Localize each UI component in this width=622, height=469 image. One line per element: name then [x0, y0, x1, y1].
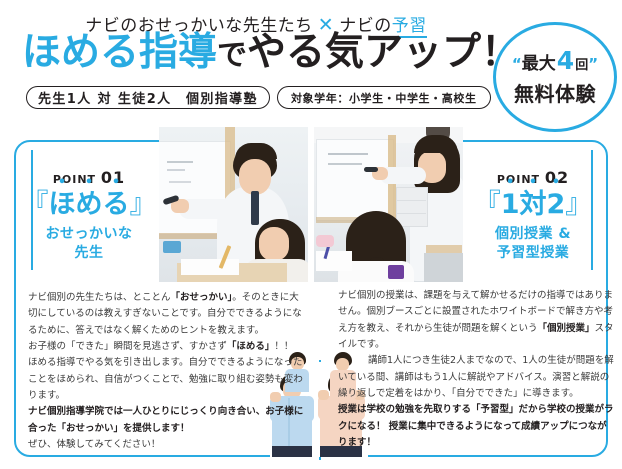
free-trial-badge: “最大4回” 無料体験 — [493, 22, 617, 132]
point-01-title: 『ほめる』 — [14, 189, 164, 220]
point-01-sub-line1: おせっかいな — [14, 225, 164, 244]
body-right-p3: 授業は学校の勉強を先取りする「予習型」だから学校の授業がラクになる！ 授業に集中… — [338, 402, 614, 451]
body-left-p4: ナビ個別指導学院では一人ひとりにじっくり向き合い、お子様に合った「おせっかい」を… — [28, 404, 306, 437]
badge-prefix: 最大 — [522, 56, 556, 73]
point-01-bracket-open: 『 — [22, 189, 49, 220]
body-right-p1: ナビ個別の授業は、課題を与えて解かせるだけの指導ではありません。個別ブースごとに… — [338, 288, 614, 353]
body-text-right: ナビ個別の授業は、課題を与えて解かせるだけの指導ではありません。個別ブースごとに… — [338, 288, 614, 451]
badge-number: 4 — [556, 48, 575, 73]
badge-top-line: “最大4回” — [512, 48, 598, 73]
point-02-bracket-open: 『 — [474, 189, 501, 220]
point-02-bracket-close: 』 — [565, 189, 592, 220]
photo-row — [159, 127, 463, 282]
point-02-char-3: 2 — [547, 189, 566, 220]
body-left-p3: ほめる指導でやる気を引き出します。自分でできるようになったことをほめられ、自信が… — [28, 355, 306, 404]
badge-quote-open: “ — [512, 57, 522, 72]
body-left-p2-a: お子様の「できた」瞬間を見逃さず、すかさず — [28, 341, 227, 352]
point-02-sub-line1: 個別授業 & — [458, 225, 608, 244]
body-left-p1-b: 「おせっかい」 — [171, 292, 233, 303]
point-02-subtitle: 個別授業 & 予習型授業 — [458, 225, 608, 263]
body-right-p3-b: 「予習型」 — [471, 404, 519, 415]
point-01-bracket-close: 』 — [130, 189, 157, 220]
photo-teacher-female — [314, 127, 463, 282]
body-left-p4-a: ナビ個別指導学院では一人ひとりにじっくり向き合い、お子様に合った「おせっかい」を… — [28, 406, 303, 433]
point-01-char-2: め — [76, 189, 103, 220]
body-left-p1: ナビ個別の先生たちは、とことん「おせっかい」。そのときに大切にしているのは教えす… — [28, 290, 306, 339]
tag-grades: 対象学年：小学生・中学生・高校生 — [277, 86, 491, 109]
point-02-sub-line2: 予習型授業 — [458, 244, 608, 263]
point-01-sub-line2: 先生 — [14, 244, 164, 263]
body-right-p3-a: 授業は学校の勉強を先取りする — [338, 404, 471, 415]
advertisement-poster: ナビのおせっかいな先生たち✕ナビの予習 ほめる指導でやる気アップ！ “最大4回”… — [0, 0, 622, 469]
body-right-p1-b: 「個別授業」 — [538, 323, 595, 334]
point-02-char-2: 対 — [520, 189, 547, 220]
point-01-char-1: ほ — [49, 189, 76, 220]
body-left-p2: お子様の「できた」瞬間を見逃さず、すかさず「ほめる」！！ — [28, 339, 306, 355]
body-right-p2: 講師1人につき生徒2人までなので、1人の生徒が問題を解いている間、講師はもう1人… — [338, 353, 614, 402]
tag-format: 先生1人 対 生徒2人 個別指導塾 — [26, 86, 270, 109]
body-left-p2-c: ！！ — [274, 341, 293, 352]
page-title: ほめる指導でやる気アップ！ — [22, 33, 488, 72]
title-cyan: ほめる指導 — [22, 30, 217, 75]
header: ナビのおせっかいな先生たち✕ナビの予習 ほめる指導でやる気アップ！ “最大4回”… — [0, 0, 622, 118]
title-black: やる気アップ！ — [247, 30, 520, 75]
body-left-p2-b: 「ほめる」 — [227, 341, 275, 352]
point-01-subtitle: おせっかいな 先生 — [14, 225, 164, 263]
body-text-left: ナビ個別の先生たちは、とことん「おせっかい」。そのときに大切にしているのは教えす… — [28, 290, 306, 453]
point-01-block: POINT 01 『ほめる』 おせっかいな 先生 — [14, 168, 164, 263]
badge-bottom-line: 無料体験 — [514, 78, 596, 107]
badge-quote-close: ” — [588, 57, 598, 72]
point-02-char-1: 1 — [501, 189, 520, 220]
title-de: で — [217, 38, 247, 73]
point-02-block: POINT 02 『1対2』 個別授業 & 予習型授業 — [458, 168, 608, 263]
photo-teacher-male — [159, 127, 308, 282]
body-left-p5: ぜひ、体験してみてください！ — [28, 437, 306, 453]
body-left-p1-a: ナビ個別の先生たちは、とことん — [28, 292, 171, 303]
tag-row: 先生1人 対 生徒2人 個別指導塾 対象学年：小学生・中学生・高校生 — [26, 86, 491, 109]
point-01-char-3: る — [103, 189, 130, 220]
badge-unit: 回 — [575, 59, 588, 72]
point-02-title: 『1対2』 — [458, 189, 608, 220]
